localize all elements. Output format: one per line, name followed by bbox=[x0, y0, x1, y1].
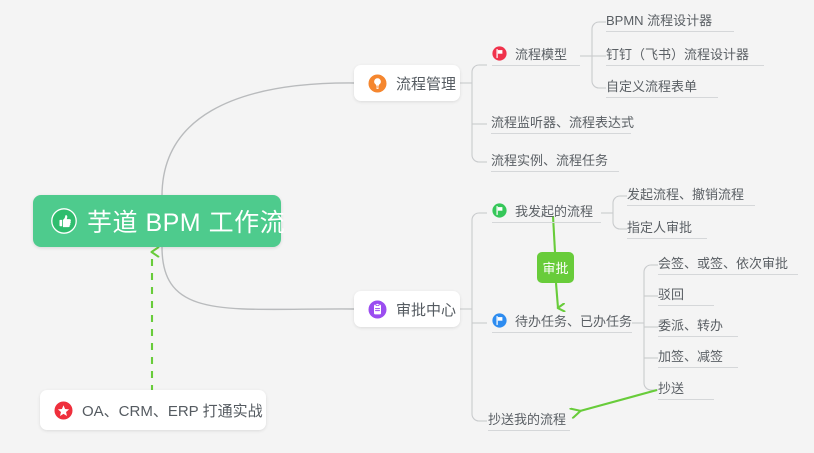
flag-icon-red bbox=[492, 46, 507, 61]
topic-label-bpmn-designer: BPMN 流程设计器 bbox=[606, 10, 712, 29]
topic-add-remove-sign[interactable]: 加签、减签 bbox=[658, 346, 738, 368]
lightbulb-icon bbox=[368, 74, 387, 93]
branch-label-process-management: 流程管理 bbox=[396, 73, 456, 94]
topic-label-cc: 抄送 bbox=[658, 378, 684, 397]
edge-root-to-process-management bbox=[162, 83, 354, 196]
branch-node-approval-center[interactable]: 审批中心 bbox=[354, 291, 460, 327]
edge-process-management-rail bbox=[472, 65, 479, 162]
topic-cc[interactable]: 抄送 bbox=[658, 378, 714, 400]
topic-label-dingtalk-feishu-designer: 钉钉（飞书）流程设计器 bbox=[606, 44, 749, 63]
topic-label-process-instance-task: 流程实例、流程任务 bbox=[491, 150, 608, 169]
topic-label-custom-process-form: 自定义流程表单 bbox=[606, 76, 697, 95]
approval-callout-label: 审批 bbox=[542, 258, 568, 277]
topic-label-my-initiated-process: 我发起的流程 bbox=[515, 201, 593, 220]
topic-my-initiated-process[interactable]: 我发起的流程 bbox=[492, 201, 601, 223]
arrow-initiated-to-todo-bottom bbox=[556, 283, 558, 308]
edge-root-to-approval-center bbox=[162, 247, 354, 309]
topic-delegate-transfer[interactable]: 委派、转办 bbox=[658, 315, 738, 337]
topic-process-instance-task[interactable]: 流程实例、流程任务 bbox=[491, 150, 619, 172]
thumbs-up-icon bbox=[51, 208, 77, 234]
topic-reject[interactable]: 驳回 bbox=[658, 284, 714, 306]
edge-process-model-rail bbox=[592, 22, 599, 88]
edge-todo-done-rail bbox=[644, 265, 651, 390]
star-icon bbox=[54, 401, 73, 420]
flag-icon-green bbox=[492, 203, 507, 218]
topic-label-cc-to-me-process: 抄送我的流程 bbox=[488, 409, 566, 428]
topic-process-model[interactable]: 流程模型 bbox=[492, 44, 580, 66]
topic-label-assignee-approval: 指定人审批 bbox=[627, 217, 692, 236]
topic-countersign-orsign-sequential[interactable]: 会签、或签、依次审批 bbox=[658, 253, 798, 275]
topic-label-countersign-orsign-sequential: 会签、或签、依次审批 bbox=[658, 253, 788, 272]
topic-label-start-cancel-process: 发起流程、撤销流程 bbox=[627, 184, 744, 203]
branch-node-process-management[interactable]: 流程管理 bbox=[354, 65, 460, 101]
topic-label-process-listener-expression: 流程监听器、流程表达式 bbox=[491, 112, 634, 131]
root-label: 芋道 BPM 工作流 bbox=[87, 203, 285, 239]
side-note-label: OA、CRM、ERP 打通实战 bbox=[82, 400, 263, 421]
clipboard-icon bbox=[368, 300, 387, 319]
topic-todo-done-tasks[interactable]: 待办任务、已办任务 bbox=[492, 311, 632, 333]
topic-label-add-remove-sign: 加签、减签 bbox=[658, 346, 723, 365]
topic-assignee-approval[interactable]: 指定人审批 bbox=[627, 217, 707, 239]
side-note-node[interactable]: OA、CRM、ERP 打通实战 bbox=[40, 390, 266, 430]
topic-label-process-model: 流程模型 bbox=[515, 44, 567, 63]
mindmap-canvas: 芋道 BPM 工作流 OA、CRM、ERP 打通实战 流程管理 bbox=[0, 0, 814, 453]
approval-callout-badge[interactable]: 审批 bbox=[537, 252, 574, 283]
topic-bpmn-designer[interactable]: BPMN 流程设计器 bbox=[606, 10, 734, 32]
arrow-cc-to-ccme bbox=[580, 390, 657, 411]
root-node[interactable]: 芋道 BPM 工作流 bbox=[33, 195, 281, 247]
topic-start-cancel-process[interactable]: 发起流程、撤销流程 bbox=[627, 184, 755, 206]
topic-process-listener-expression[interactable]: 流程监听器、流程表达式 bbox=[491, 112, 631, 134]
topic-label-reject: 驳回 bbox=[658, 284, 684, 303]
flag-icon-blue bbox=[492, 313, 507, 328]
topic-cc-to-me-process[interactable]: 抄送我的流程 bbox=[488, 409, 570, 431]
topic-custom-process-form[interactable]: 自定义流程表单 bbox=[606, 76, 718, 98]
topic-dingtalk-feishu-designer[interactable]: 钉钉（飞书）流程设计器 bbox=[606, 44, 764, 66]
topic-label-todo-done-tasks: 待办任务、已办任务 bbox=[515, 311, 632, 330]
edge-approval-center-rail bbox=[472, 213, 479, 421]
topic-label-delegate-transfer: 委派、转办 bbox=[658, 315, 723, 334]
branch-label-approval-center: 审批中心 bbox=[396, 299, 456, 320]
edge-my-initiated-rail bbox=[613, 196, 620, 229]
